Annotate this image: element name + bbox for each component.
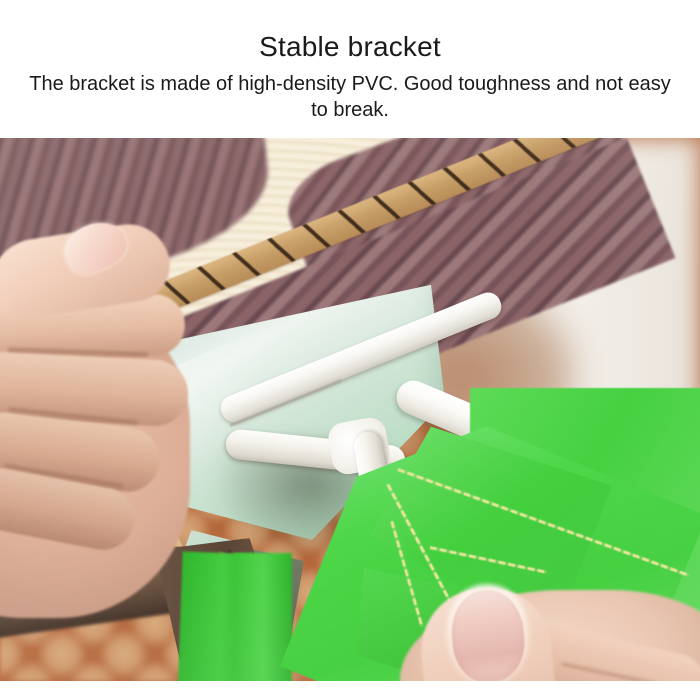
header-text-block: Stable bracket The bracket is made of hi… — [0, 0, 700, 138]
page-subtitle: The bracket is made of high-density PVC.… — [0, 71, 700, 123]
page-title: Stable bracket — [0, 30, 700, 64]
product-photo — [0, 138, 700, 681]
footer-white-band — [0, 681, 700, 700]
page-root: Stable bracket The bracket is made of hi… — [0, 0, 700, 700]
